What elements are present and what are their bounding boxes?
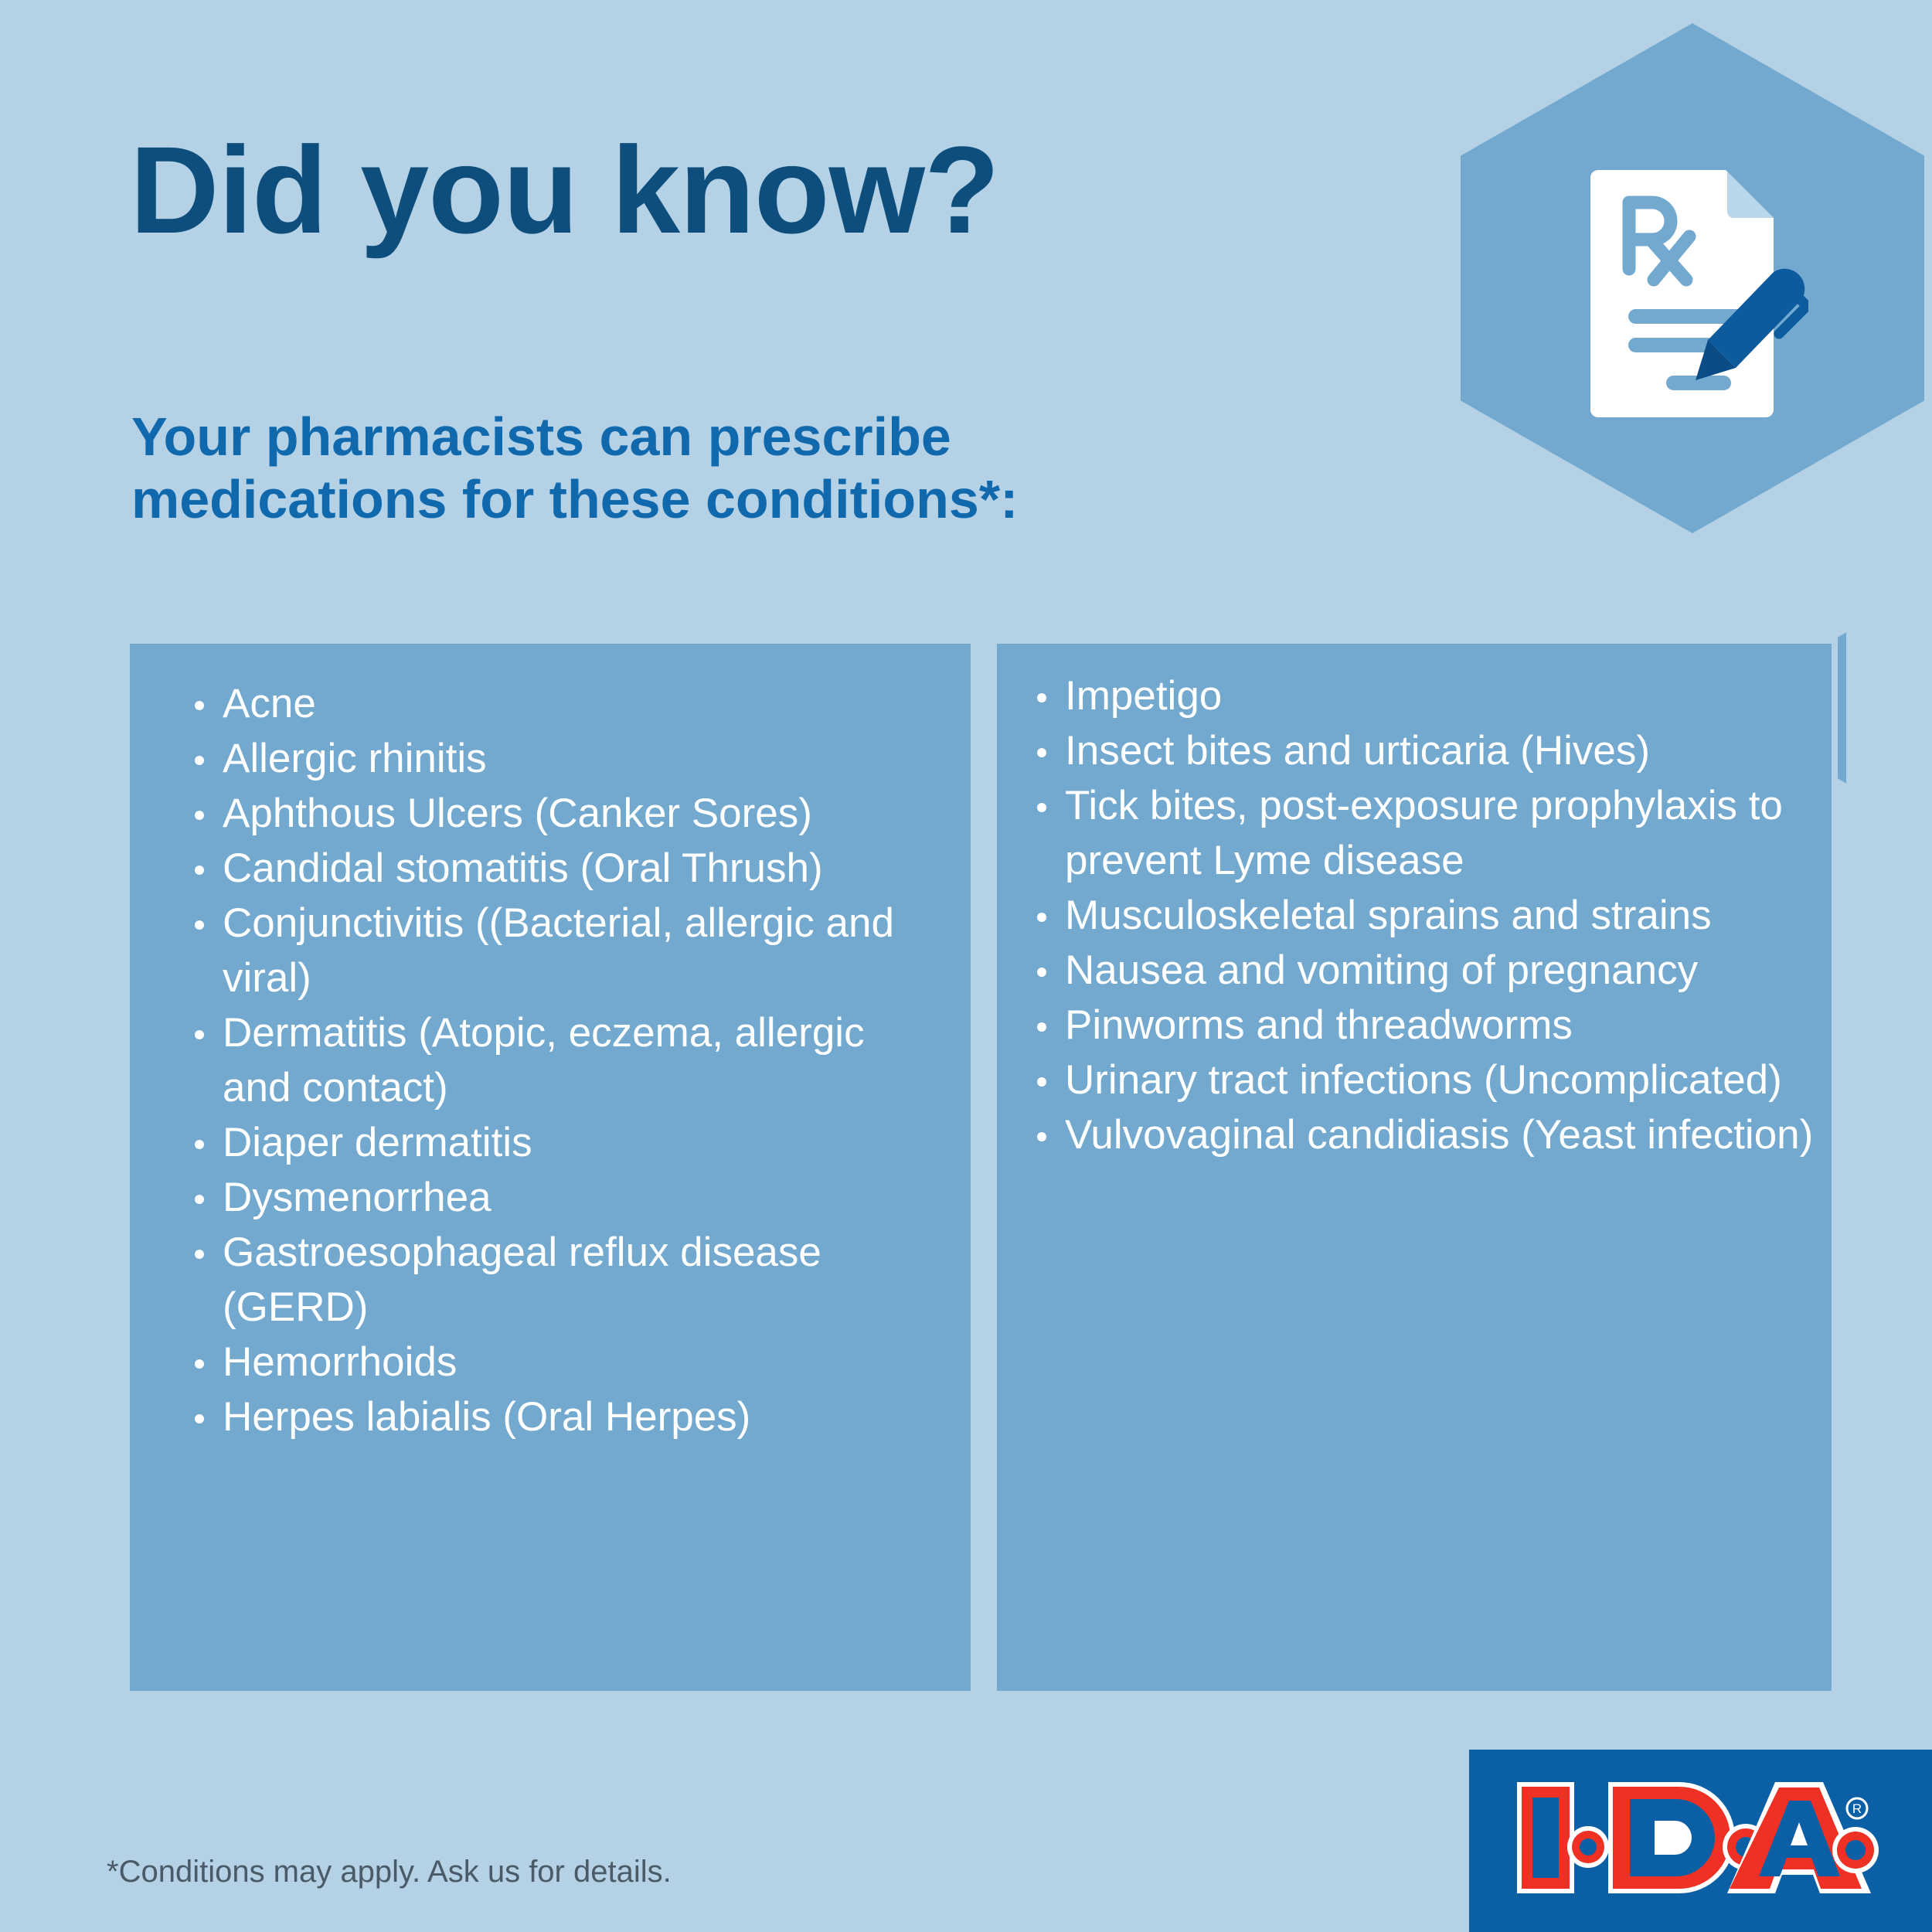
- list-item: Musculoskeletal sprains and strains: [1036, 888, 1816, 943]
- list-item: Herpes labialis (Oral Herpes): [193, 1389, 935, 1444]
- list-item: Acne: [193, 676, 935, 731]
- list-item: Allergic rhinitis: [193, 731, 935, 786]
- list-item: Diaper dermatitis: [193, 1115, 935, 1170]
- list-item: Urinary tract infections (Uncomplicated): [1036, 1053, 1816, 1107]
- registered-trademark-icon: R: [1847, 1798, 1867, 1818]
- ida-logo-mark: R: [1514, 1779, 1885, 1896]
- page-subtitle-line-2: medications for these conditions*:: [131, 468, 1291, 531]
- list-item: Dermatitis (Atopic, eczema, allergic and…: [193, 1005, 935, 1115]
- list-item: Vulvovaginal candidiasis (Yeast infectio…: [1036, 1107, 1816, 1162]
- list-item: Candidal stomatitis (Oral Thrush): [193, 841, 935, 896]
- list-item: Aphthous Ulcers (Canker Sores): [193, 786, 935, 841]
- page-subtitle: Your pharmacists can prescribe medicatio…: [131, 406, 1291, 530]
- list-item: Nausea and vomiting of pregnancy: [1036, 943, 1816, 998]
- page-title: Did you know?: [130, 128, 999, 252]
- list-item: Conjunctivitis ((Bacterial, allergic and…: [193, 896, 935, 1005]
- conditions-list-left: Acne Allergic rhinitis Aphthous Ulcers (…: [193, 676, 935, 1444]
- conditions-panel-left: Acne Allergic rhinitis Aphthous Ulcers (…: [130, 644, 971, 1691]
- rx-document-icon: [1584, 162, 1808, 425]
- list-item: Gastroesophageal reflux disease (GERD): [193, 1225, 935, 1335]
- infographic-poster: Did you know? Your pharmacists can presc…: [0, 0, 1932, 1932]
- list-item: Dysmenorrhea: [193, 1170, 935, 1225]
- ida-logo: R: [1469, 1750, 1932, 1932]
- list-item: Pinworms and threadworms: [1036, 998, 1816, 1053]
- conditions-panel-right: Impetigo Insect bites and urticaria (Hiv…: [997, 644, 1832, 1691]
- list-item: Insect bites and urticaria (Hives): [1036, 723, 1816, 778]
- page-subtitle-line-1: Your pharmacists can prescribe: [131, 406, 1291, 468]
- list-item: Hemorrhoids: [193, 1335, 935, 1389]
- hexagon-outline-icon: [1838, 561, 1932, 855]
- conditions-list-right: Impetigo Insect bites and urticaria (Hiv…: [1036, 668, 1816, 1162]
- svg-text:R: R: [1852, 1801, 1862, 1816]
- list-item: Tick bites, post-exposure prophylaxis to…: [1036, 778, 1816, 888]
- footnote-text: *Conditions may apply. Ask us for detail…: [107, 1855, 672, 1889]
- list-item: Impetigo: [1036, 668, 1816, 723]
